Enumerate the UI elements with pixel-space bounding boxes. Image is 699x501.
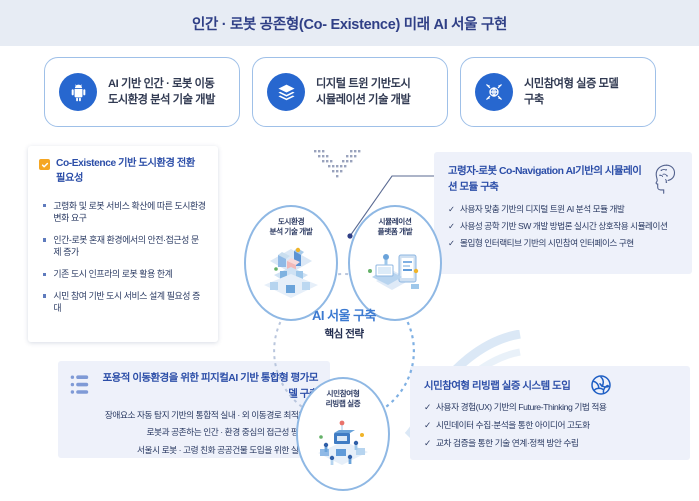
lobe-line2: 리빙랩 실증 <box>326 399 361 409</box>
pill-line1: AI 기반 인간 · 로봇 이동 <box>108 76 215 92</box>
check-icon <box>39 159 50 170</box>
list-item-label: 사용자 맞춤 기반의 디지털 트윈 AI 분석 모듈 개발 <box>460 204 624 216</box>
list-item: 시민 참여 기반 도시 서비스 설계 필요성 증대 <box>43 290 206 315</box>
list-item: ✓ 몰입형 인터랙티브 기반의 시민참여 인터페이스 구현 <box>448 238 678 250</box>
pill-line1: 디지털 트윈 기반도시 <box>316 76 410 92</box>
pill-digital-twin[interactable]: 디지털 트윈 기반도시 시뮬레이션 기술 개발 <box>252 57 448 127</box>
pill-label: AI 기반 인간 · 로봇 이동 도시환경 분석 기술 개발 <box>108 76 215 108</box>
header-band: 인간 · 로봇 공존형(Co- Existence) 미래 AI 서울 구현 <box>0 0 699 46</box>
people-livinglab-icon <box>306 413 380 473</box>
core-subtitle: 핵심 전략 <box>324 326 363 341</box>
lobe-line1: 도시환경 <box>270 217 313 227</box>
bullet-square-icon <box>43 204 46 207</box>
list-item: ✓ 교차 검증을 통한 기술 연계·정책 방안 수립 <box>424 437 676 449</box>
list-item: ✓ 사용성 공학 기반 SW 개발 방법론 실시간 상호작용 시뮬레이션 <box>448 221 678 233</box>
brain-head-icon <box>646 162 680 196</box>
lobe-line1: 시민참여형 <box>326 389 361 399</box>
list-item-label: 기존 도시 인프라의 로봇 활용 한계 <box>53 268 172 281</box>
core-title: AI 서울 구축 <box>312 305 376 324</box>
layers-stack-icon <box>267 73 305 111</box>
list-item-label: 시민데이터 수집·분석을 통한 아이디어 고도화 <box>436 419 590 431</box>
list-item-label: 사용자 경험(UX) 기반의 Future-Thinking 기법 적용 <box>436 401 606 413</box>
bullet-square-icon <box>43 294 46 297</box>
list-item-label: 교차 검증을 통한 기술 연계·정책 방안 수립 <box>436 437 578 449</box>
top-pill-row: AI 기반 인간 · 로봇 이동 도시환경 분석 기술 개발 디지털 트윈 기반… <box>44 57 656 127</box>
swirl-spiral-icon <box>590 374 612 396</box>
pill-line2: 시뮬레이션 기술 개발 <box>316 92 410 108</box>
core-strategy: AI 서울 구축 핵심 전략 <box>283 305 405 385</box>
lobe-line2: 분석 기술 개발 <box>270 227 313 237</box>
list-item-label: 몰입형 인터랙티브 기반의 시민참여 인터페이스 구현 <box>460 238 634 250</box>
simulation-lobe[interactable]: 시뮬레이션 플랫폼 개발 <box>348 205 442 321</box>
pill-ai-mobility[interactable]: AI 기반 인간 · 로봇 이동 도시환경 분석 기술 개발 <box>44 57 240 127</box>
need-panel-header: Co-Existence 기반 도시환경 전환 필요성 <box>39 157 206 187</box>
list-item: 인간-로봇 혼재 환경에서의 안전·접근성 문제 증가 <box>43 234 206 259</box>
list-item-label: 사용성 공학 기반 SW 개발 방법론 실시간 상호작용 시뮬레이션 <box>460 221 667 233</box>
page-title: 인간 · 로봇 공존형(Co- Existence) 미래 AI 서울 구현 <box>192 13 507 34</box>
list-item: 기존 도시 인프라의 로봇 활용 한계 <box>43 268 206 281</box>
need-panel-list: 고령화 및 로봇 서비스 확산에 따른 도시환경 변화 요구 인간-로봇 혼재 … <box>39 200 206 315</box>
pill-line2: 구축 <box>524 92 618 108</box>
panel-list: ✓ 사용자 맞춤 기반의 디지털 트윈 AI 분석 모듈 개발 ✓ 사용성 공학… <box>448 204 678 250</box>
android-robot-icon <box>59 73 97 111</box>
devices-platform-icon <box>358 241 432 301</box>
list-item: ✓ 시민데이터 수집·분석을 통한 아이디어 고도화 <box>424 419 676 431</box>
lobe-label: 시민참여형 리빙랩 실증 <box>326 389 361 410</box>
list-item-label: 시민 참여 기반 도시 서비스 설계 필요성 증대 <box>53 290 206 315</box>
list-item-label: 고령화 및 로봇 서비스 확산에 따른 도시환경 변화 요구 <box>53 200 206 225</box>
livinglab-panel: 시민참여형 리빙랩 실증 시스템 도입 ✓ 사용자 경험(UX) 기반의 Fut… <box>410 366 690 460</box>
livinglab-lobe[interactable]: 시민참여형 리빙랩 실증 <box>296 377 390 491</box>
lobe-label: 도시환경 분석 기술 개발 <box>270 217 313 238</box>
list-item-label: 인간-로봇 혼재 환경에서의 안전·접근성 문제 증가 <box>53 234 206 259</box>
co-navigation-panel: 고령자-로봇 Co-Navigation AI기반의 시뮬레이션 모듈 구축 ✓… <box>434 152 692 274</box>
need-panel: Co-Existence 기반 도시환경 전환 필요성 고령화 및 로봇 서비스… <box>28 146 218 342</box>
chevron-dots-decoration <box>312 148 364 182</box>
infographic-root: 인간 · 로봇 공존형(Co- Existence) 미래 AI 서울 구현 A… <box>0 0 699 501</box>
need-panel-title: Co-Existence 기반 도시환경 전환 필요성 <box>56 157 206 187</box>
list-item: ✓ 사용자 경험(UX) 기반의 Future-Thinking 기법 적용 <box>424 401 676 413</box>
pill-label: 시민참여형 실증 모델 구축 <box>524 76 618 108</box>
panel-title: 고령자-로봇 Co-Navigation AI기반의 시뮬레이션 모듈 구축 <box>448 164 644 195</box>
pill-line1: 시민참여형 실증 모델 <box>524 76 618 92</box>
list-item: ✓ 사용자 맞춤 기반의 디지털 트윈 AI 분석 모듈 개발 <box>448 204 678 216</box>
list-item: 고령화 및 로봇 서비스 확산에 따른 도시환경 변화 요구 <box>43 200 206 225</box>
panel-list: ✓ 사용자 경험(UX) 기반의 Future-Thinking 기법 적용 ✓… <box>424 401 676 450</box>
bullet-list-icon <box>70 374 90 396</box>
pill-line2: 도시환경 분석 기술 개발 <box>108 92 215 108</box>
lobe-label: 시뮬레이션 플랫폼 개발 <box>378 217 413 238</box>
pill-label: 디지털 트윈 기반도시 시뮬레이션 기술 개발 <box>316 76 410 108</box>
pill-citizen-model[interactable]: 시민참여형 실증 모델 구축 <box>460 57 656 127</box>
panel-title: 시민참여형 리빙랩 실증 시스템 도입 <box>424 377 676 392</box>
globe-arrows-icon <box>475 73 513 111</box>
lobe-line2: 플랫폼 개발 <box>378 227 413 237</box>
city-env-lobe[interactable]: 도시환경 분석 기술 개발 <box>244 205 338 321</box>
lobe-line1: 시뮬레이션 <box>378 217 413 227</box>
bullet-square-icon <box>43 273 46 276</box>
isometric-city-icon <box>254 241 328 301</box>
center-diagram: 도시환경 분석 기술 개발 <box>236 195 452 495</box>
bullet-square-icon <box>43 238 46 241</box>
